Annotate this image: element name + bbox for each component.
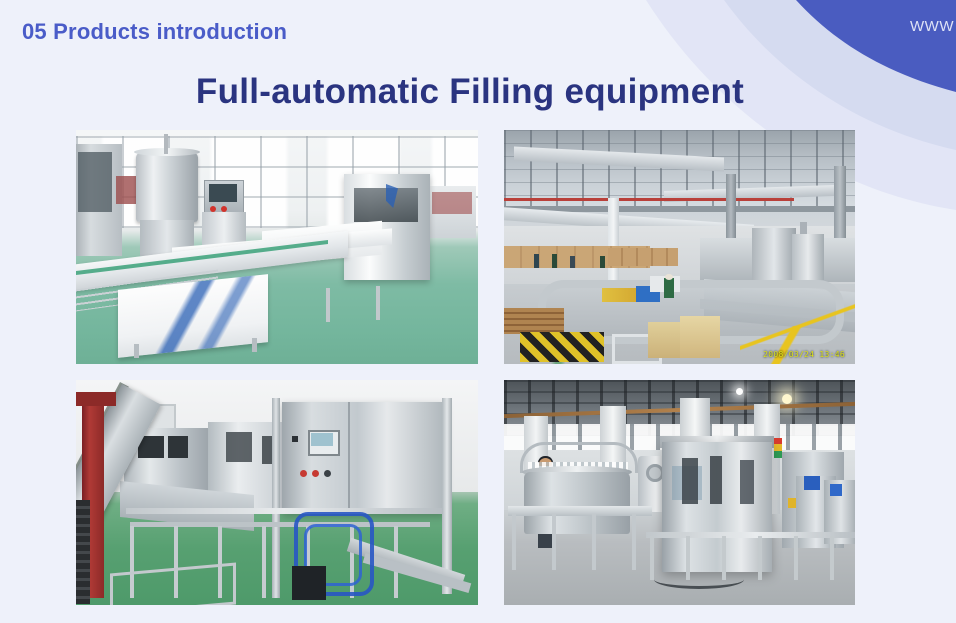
photo-top-right[interactable]: 2008/03/24 13:46	[504, 130, 855, 364]
page-title: Full-automatic Filling equipment	[0, 72, 956, 112]
photo-bottom-right-scene	[504, 380, 855, 605]
photo-bottom-right[interactable]	[504, 380, 855, 605]
photo-top-left-scene	[76, 130, 478, 364]
website-url-text: WWW	[910, 18, 954, 35]
photo-bottom-left-scene	[76, 380, 478, 605]
photo-top-left[interactable]	[76, 130, 478, 364]
photo-grid: 2008/03/24 13:46	[76, 130, 855, 605]
photo-top-right-scene: 2008/03/24 13:46	[504, 130, 855, 364]
photo-timestamp-watermark: 2008/03/24 13:46	[763, 350, 845, 359]
photo-bottom-left[interactable]	[76, 380, 478, 605]
section-label: 05 Products introduction	[22, 19, 287, 45]
presentation-slide: WWW 05 Products introduction Full-automa…	[0, 0, 956, 623]
